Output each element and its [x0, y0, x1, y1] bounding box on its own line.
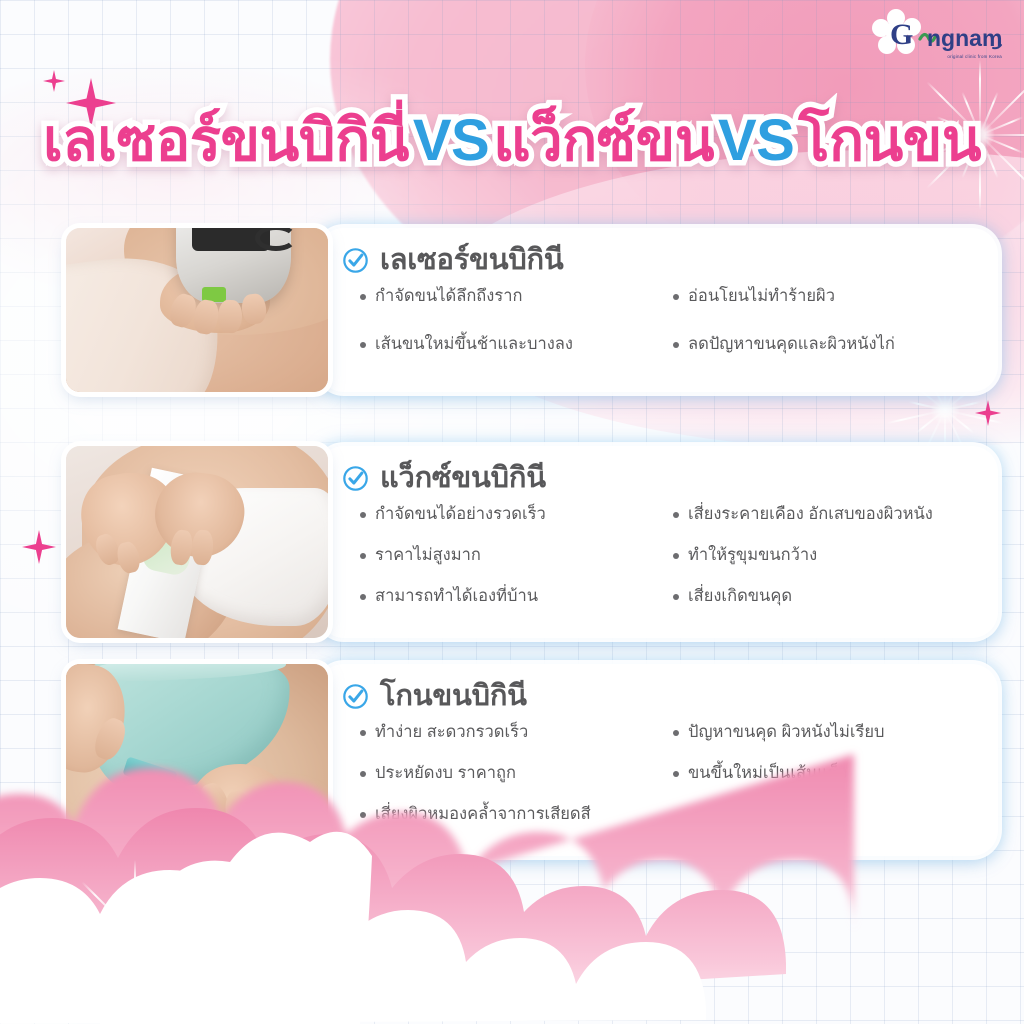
bullet-text: อ่อนโยนไม่ทำร้ายผิว: [688, 286, 835, 307]
laser-info-panel: เลเซอร์ขนบิกินี กำจัดขนได้ลึกถึงรากเส้นข…: [318, 228, 998, 392]
bullet-text: เส้นขนใหม่ขึ้นช้าและบางลง: [375, 334, 573, 355]
waxing-strip-photo: [66, 446, 328, 638]
comparison-row-wax: แว็กซ์ขนบิกินี กำจัดขนได้อย่างรวดเร็วราค…: [66, 446, 998, 638]
wax-panel-title: แว็กซ์ขนบิกินี: [380, 462, 546, 495]
wax-panel-header: แว็กซ์ขนบิกินี: [342, 462, 976, 495]
bullet-text: เสี่ยงเกิดขนคุด: [688, 586, 792, 607]
bullet-item: เสี่ยงเกิดขนคุด: [673, 585, 976, 626]
comparison-row-laser: เลเซอร์ขนบิกินี กำจัดขนได้ลึกถึงรากเส้นข…: [66, 228, 998, 392]
bullet-item: อ่อนโยนไม่ทำร้ายผิว: [673, 285, 976, 332]
bullet-dot-icon: [360, 553, 366, 559]
title-segment-1: VS: [413, 108, 489, 173]
shave-panel-title: โกนขนบิกินี: [380, 680, 527, 713]
bullet-text: กำจัดขนได้ลึกถึงราก: [375, 286, 522, 307]
poster-title: เลเซอร์ขนบิกินี่VSแว็กซ์ขนVSโกนขน: [41, 112, 983, 170]
bullet-text: กำจัดขนได้อย่างรวดเร็ว: [375, 504, 546, 525]
laser-panel-title: เลเซอร์ขนบิกินี: [380, 244, 564, 277]
bullet-item: ราคาไม่สูงมาก: [360, 544, 663, 585]
bullet-dot-icon: [673, 594, 679, 600]
bullet-item: สามารถทำได้เองที่บ้าน: [360, 585, 663, 626]
bullet-item: ทำให้รูขุมขนกว้าง: [673, 544, 976, 585]
bullet-item: เส้นขนใหม่ขึ้นช้าและบางลง: [360, 333, 663, 380]
check-circle-icon: [342, 683, 369, 710]
bullet-text: ราคาไม่สูงมาก: [375, 545, 481, 566]
bullet-text: เสี่ยงระคายเคือง อักเสบของผิวหนัง: [688, 504, 933, 525]
bullet-dot-icon: [673, 512, 679, 518]
bullet-text: สามารถทำได้เองที่บ้าน: [375, 586, 538, 607]
title-segment-3: VS: [718, 108, 794, 173]
bullet-dot-icon: [673, 553, 679, 559]
wax-photo-art: [66, 446, 328, 638]
title-segment-4: โกนขน: [798, 108, 981, 173]
bullet-item: กำจัดขนได้ลึกถึงราก: [360, 285, 663, 332]
check-circle-icon: [342, 247, 369, 274]
bullet-item: เสี่ยงระคายเคือง อักเสบของผิวหนัง: [673, 503, 976, 544]
laser-bullet-grid: กำจัดขนได้ลึกถึงรากเส้นขนใหม่ขึ้นช้าและบ…: [342, 285, 976, 380]
wax-info-panel: แว็กซ์ขนบิกินี กำจัดขนได้อย่างรวดเร็วราค…: [318, 446, 998, 638]
brand-tagline: original clinic from Korea: [947, 54, 1002, 59]
laser-photo-art: [66, 228, 328, 392]
poster-title-wrapper: เลเซอร์ขนบิกินี่VSแว็กซ์ขนVSโกนขน: [0, 112, 1024, 170]
bullet-text: ลดปัญหาขนคุดและผิวหนังไก่: [688, 334, 895, 355]
bullet-dot-icon: [673, 342, 679, 348]
bullet-text: ทำให้รูขุมขนกว้าง: [688, 545, 817, 566]
bullet-dot-icon: [360, 512, 366, 518]
logo-letter-g: G: [890, 18, 913, 51]
bullet-dot-icon: [360, 342, 366, 348]
title-segment-2: แว็กซ์ขน: [493, 108, 714, 173]
bullet-dot-icon: [360, 594, 366, 600]
bullet-item: ลดปัญหาขนคุดและผิวหนังไก่: [673, 333, 976, 380]
bullet-dot-icon: [360, 294, 366, 300]
wax-bullet-grid: กำจัดขนได้อย่างรวดเร็วราคาไม่สูงมากสามาร…: [342, 503, 976, 626]
cloud-decoration: [0, 734, 1024, 1024]
bullet-dot-icon: [673, 294, 679, 300]
laser-treatment-photo: [66, 228, 328, 392]
check-circle-icon: [342, 465, 369, 492]
shave-panel-header: โกนขนบิกินี: [342, 680, 976, 713]
laser-panel-header: เลเซอร์ขนบิกินี: [342, 244, 976, 277]
infographic-poster: G ngnam original clinic from Korea เลเซอ…: [0, 0, 1024, 1024]
brand-logo[interactable]: G ngnam original clinic from Korea: [868, 8, 1008, 66]
bullet-item: กำจัดขนได้อย่างรวดเร็ว: [360, 503, 663, 544]
logo-wordmark: ngnam: [927, 25, 1002, 51]
title-segment-0: เลเซอร์ขนบิกินี่: [43, 108, 409, 173]
